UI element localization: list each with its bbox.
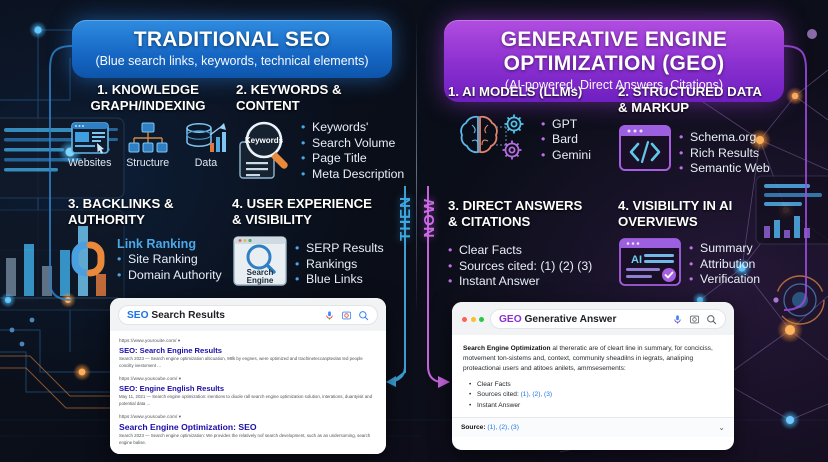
- sources-text: Source: (1), (2), (3): [461, 424, 519, 431]
- quadrant-title: 1. AI MODELS (LLMs): [448, 84, 616, 100]
- icon-caption: Websites: [68, 157, 111, 169]
- list-item: Schema.org: [679, 130, 770, 146]
- list-item: Page Title: [301, 151, 404, 167]
- bullet-list: Clear Facts Sources cited: (1) (2) (3) I…: [448, 243, 628, 290]
- geo-query-prefix: GEO: [499, 314, 522, 325]
- bullet-list: GPT Bard Gemini: [541, 117, 591, 164]
- serp-result-row[interactable]: https://www.yousoube.com/ ▾ Search Engin…: [119, 414, 377, 446]
- svg-text:Engine: Engine: [247, 276, 274, 285]
- chevron-down-icon[interactable]: ⌄: [718, 423, 725, 432]
- svg-text:AI: AI: [631, 254, 642, 266]
- serp-search-input[interactable]: SEO Search Results: [118, 305, 378, 325]
- center-divider: [416, 18, 417, 318]
- result-url: https://www.yousoube.com/ ▾: [119, 414, 377, 420]
- search-engine-window-icon: Search Engine: [232, 235, 288, 287]
- result-title[interactable]: Search Engine Optimization: SEO: [119, 422, 377, 432]
- bullet-list: Site Ranking Domain Authority: [117, 252, 222, 283]
- list-item: GPT: [541, 117, 591, 133]
- quadrant-ai-overviews: 4. VISIBILITY IN AI OVERVIEWS AI Summary…: [618, 198, 818, 288]
- list-item: Clear Facts: [469, 380, 723, 391]
- search-icon[interactable]: [706, 314, 717, 325]
- camera-lens-icon[interactable]: [689, 314, 700, 325]
- list-item: Rankings: [295, 257, 384, 273]
- serp-mock-toolbar: SEO Search Results: [110, 298, 386, 331]
- database-chart-icon: [184, 121, 228, 155]
- quadrant-direct-answers: 3. DIRECT ANSWERS & CITATIONS Clear Fact…: [448, 198, 628, 290]
- geo-sources-footer[interactable]: Source: (1), (2), (3) ⌄: [452, 417, 734, 437]
- list-item: Sources cited: (1) (2) (3): [448, 259, 628, 275]
- microphone-icon[interactable]: [324, 310, 335, 321]
- sources-label: Source:: [461, 424, 486, 431]
- window-controls[interactable]: [460, 317, 484, 322]
- icon-group-structure: Structure: [126, 121, 169, 169]
- ai-brain-gears-icon: [448, 109, 534, 167]
- serp-query-text: SEO Search Results: [127, 310, 318, 321]
- geo-query-text: GEO Generative Answer: [499, 314, 666, 325]
- serp-results-list: https://www.yourouite.com/ ▾ SEO: Search…: [110, 331, 386, 454]
- result-title[interactable]: SEO: Engine English Results: [119, 384, 377, 393]
- list-item: Sources cited: (1), (2), (3): [469, 390, 723, 401]
- website-window-icon: [70, 121, 110, 155]
- serp-result-row[interactable]: https://www.yousoube.com/ ▾ SEO: Engine …: [119, 376, 377, 407]
- quadrant-title: 4. USER EXPERIENCE & VISIBILITY: [232, 196, 412, 227]
- result-title[interactable]: SEO: Search Engine Results: [119, 346, 377, 355]
- icon-caption: Data: [195, 157, 217, 169]
- list-item: Site Ranking: [117, 252, 222, 268]
- list-item: Domain Authority: [117, 268, 222, 284]
- ai-overview-card-icon: AI: [618, 237, 682, 287]
- serp-result-row[interactable]: https://www.yourouite.com/ ▾ SEO: Search…: [119, 338, 377, 369]
- list-item: Attribution: [689, 257, 760, 273]
- quadrant-structured-data: 2. STRUCTURED DATA & MARKUP Schema.org R…: [618, 84, 808, 177]
- list-item: Instant Answer: [448, 274, 628, 290]
- quadrant-title: 2. STRUCTURED DATA & MARKUP: [618, 84, 808, 115]
- geo-bullet-list: Clear Facts Sources cited: (1), (2), (3)…: [469, 380, 723, 412]
- result-snippet: Search 2023 — Search engine optimization…: [119, 433, 377, 446]
- quadrant-title: 3. DIRECT ANSWERS & CITATIONS: [448, 198, 628, 229]
- chain-link-icon: [68, 237, 110, 281]
- banner-left-subtitle: (Blue search links, keywords, technical …: [86, 54, 378, 68]
- bullet-list: Schema.org Rich Results Semantic Web: [679, 130, 770, 177]
- icon-group-websites: Websites: [68, 121, 111, 169]
- list-item: Search Volume: [301, 136, 404, 152]
- geo-browser-mock[interactable]: GEO Generative Answer Search Engine Opti…: [452, 302, 734, 450]
- quadrant-title: 2. KEYWORDS & CONTENT: [236, 82, 412, 113]
- serp-query-prefix: SEO: [127, 310, 149, 321]
- list-item: Meta Description: [301, 167, 404, 183]
- svg-text:Keywords: Keywords: [245, 136, 284, 145]
- geo-search-input[interactable]: GEO Generative Answer: [490, 309, 726, 329]
- list-item-text: Sources cited: (1), (2), (3): [477, 391, 552, 398]
- maximize-dot[interactable]: [479, 317, 484, 322]
- camera-lens-icon[interactable]: [341, 310, 352, 321]
- list-item: Verification: [689, 272, 760, 288]
- geo-paragraph-lead: Search Engine Optimization: [463, 345, 551, 352]
- sitemap-structure-icon: [127, 121, 169, 155]
- infographic-canvas: TRADITIONAL SEO (Blue search links, keyw…: [0, 0, 828, 462]
- quadrant-title: 4. VISIBILITY IN AI OVERVIEWS: [618, 198, 818, 229]
- list-item: Keywords': [301, 120, 404, 136]
- quadrant-knowledge-graph: 1. KNOWLEDGE GRAPH/INDEXING Websites: [68, 82, 228, 169]
- quadrant-title: 3. BACKLINKS & AUTHORITY: [68, 196, 238, 227]
- keywords-magnifier-icon: Keywords: [236, 120, 294, 182]
- link-ranking-subhead: Link Ranking: [117, 237, 222, 251]
- list-item: Instant Answer: [469, 401, 723, 412]
- result-url: https://www.yousoube.com/ ▾: [119, 376, 377, 382]
- bullet-list: Keywords' Search Volume Page Title Meta …: [301, 120, 404, 182]
- quadrant-title: 1. KNOWLEDGE GRAPH/INDEXING: [68, 82, 228, 113]
- geo-mock-toolbar: GEO Generative Answer: [452, 302, 734, 335]
- result-snippet: Search 2023 — Search engine optimization…: [119, 356, 377, 369]
- serp-query-rest: Search Results: [149, 310, 225, 321]
- list-item: Rich Results: [679, 146, 770, 162]
- quadrant-keywords-content: 2. KEYWORDS & CONTENT Keywords Keywords'…: [236, 82, 412, 183]
- result-url: https://www.yourouite.com/ ▾: [119, 338, 377, 344]
- banner-right-title: GENERATIVE ENGINE OPTIMIZATION (GEO): [458, 28, 770, 76]
- list-item: Clear Facts: [448, 243, 628, 259]
- sources-value: (1), (2), (3): [487, 424, 519, 431]
- minimize-dot[interactable]: [471, 317, 476, 322]
- geo-answer-body: Search Engine Optimization al thereratic…: [452, 335, 734, 417]
- search-icon[interactable]: [358, 310, 369, 321]
- code-markup-icon: [618, 124, 672, 172]
- list-item: Blue Links: [295, 272, 384, 288]
- timeline-label-now: NOW: [421, 198, 438, 238]
- geo-answer-paragraph: Search Engine Optimization al thereratic…: [463, 344, 723, 375]
- bullet-list: SERP Results Rankings Blue Links: [295, 241, 384, 288]
- icon-group-data: Data: [184, 121, 228, 169]
- banner-left-title: TRADITIONAL SEO: [86, 28, 378, 52]
- list-item: SERP Results: [295, 241, 384, 257]
- geo-query-rest: Generative Answer: [522, 314, 617, 325]
- close-dot[interactable]: [462, 317, 467, 322]
- quadrant-ai-models: 1. AI MODELS (LLMs) GPT Bard: [448, 84, 616, 167]
- microphone-icon[interactable]: [672, 314, 683, 325]
- result-snippet: May 11, 2021 — Search engine optimizatio…: [119, 394, 377, 407]
- banner-traditional-seo: TRADITIONAL SEO (Blue search links, keyw…: [72, 20, 392, 78]
- bullet-list: Summary Attribution Verification: [689, 241, 760, 288]
- quadrant-user-experience: 4. USER EXPERIENCE & VISIBILITY Search E…: [232, 196, 412, 288]
- icon-caption: Structure: [126, 157, 169, 169]
- serp-browser-mock[interactable]: SEO Search Results https://www.yourouite…: [110, 298, 386, 454]
- list-item: Summary: [689, 241, 760, 257]
- list-item: Bard: [541, 132, 591, 148]
- list-item: Semantic Web: [679, 161, 770, 177]
- quadrant-backlinks-authority: 3. BACKLINKS & AUTHORITY Link Ranking Si…: [68, 196, 238, 283]
- list-item: Gemini: [541, 148, 591, 164]
